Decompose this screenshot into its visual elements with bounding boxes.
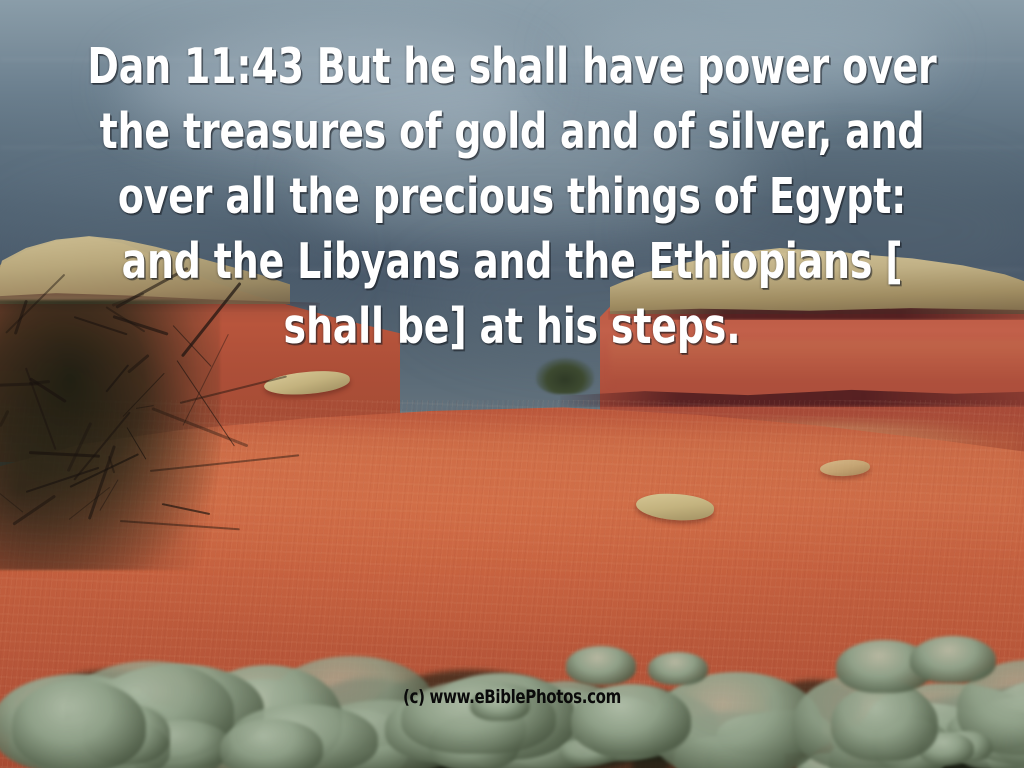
sage-bush <box>910 636 996 683</box>
copyright-watermark: (c) www.eBiblePhotos.com <box>61 686 962 708</box>
sage-bush <box>566 646 636 685</box>
verse-line: shall be] at his steps. <box>72 294 953 359</box>
sage-bush <box>220 719 323 768</box>
verse-line: over all the precious things of Egypt: <box>72 164 953 229</box>
verse-line: the treasures of gold and of silver, and <box>72 99 953 164</box>
saddle-tree <box>536 358 594 394</box>
scripture-image-canvas: Dan 11:43 But he shall have power overth… <box>0 0 1024 768</box>
verse-line: Dan 11:43 But he shall have power over <box>72 34 953 99</box>
verse-text-overlay: Dan 11:43 But he shall have power overth… <box>72 34 953 359</box>
sage-bush <box>648 652 708 685</box>
verse-line: and the Libyans and the Ethiopians [ <box>72 229 953 294</box>
